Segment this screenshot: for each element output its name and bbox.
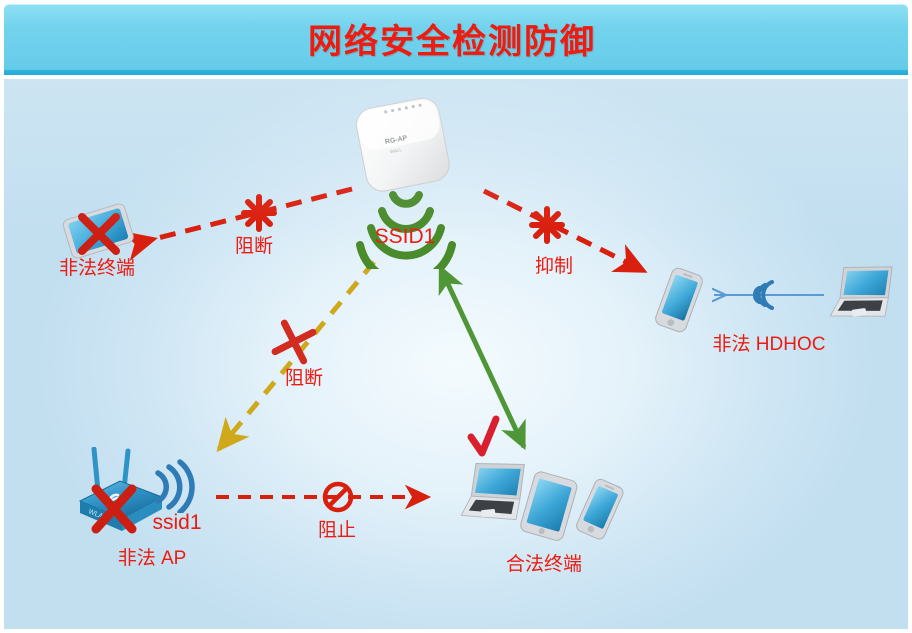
adhoc-smartphone[interactable] [644,264,714,336]
tablet-icon [519,470,578,542]
edge-allow-legit-terminals [441,269,524,447]
legitimate-terminals-label: 合法终端 [444,555,644,576]
smartphone-icon [575,477,625,540]
rogue-ap-wifi-arcs [150,457,202,513]
laptop-icon [822,261,906,333]
rogue-ap-ssid-label: ssid1 [122,511,232,534]
wifi-arcs-blue-icon [150,457,202,513]
edge-label-block-terminal: 阻断 [184,237,324,258]
adhoc-laptop[interactable] [822,261,906,333]
edge-block-rogue-ap [219,262,374,449]
banner-divider [4,70,908,75]
check-marker-allow [471,419,496,453]
no-entry-marker-prevent [325,484,351,510]
page-title: 网络安全检测防御 [0,14,904,63]
cross-marker-block-ap [275,323,313,361]
illegal-terminal-label: 非法终端 [12,259,182,280]
central-ssid-label: SSID1 [340,225,470,248]
tablet-icon [52,199,144,261]
edge-label-block-ap: 阻断 [234,369,374,390]
laptop-icon [456,459,530,526]
asterisk-marker-suppress [532,209,562,241]
edge-label-prevent: 阻止 [272,521,402,542]
edge-label-suppress: 抑制 [484,257,624,278]
edge-block-rogue-terminal [154,189,352,239]
legitimate-terminals[interactable] [456,457,636,549]
adhoc-link-arrow [714,282,824,308]
illegal-terminal[interactable] [52,199,144,261]
smartphone-icon [644,264,714,336]
asterisk-marker-block [244,197,274,229]
adhoc-group-label: 非法 HDHOC [654,335,884,356]
diagram-canvas: RG-AP WALL SSID1 [4,79,908,629]
network-security-diagram: 网络安全检测防御 [0,0,912,633]
illegal-ap-label: 非法 AP [62,549,242,570]
terminal-group-icon [456,457,636,549]
